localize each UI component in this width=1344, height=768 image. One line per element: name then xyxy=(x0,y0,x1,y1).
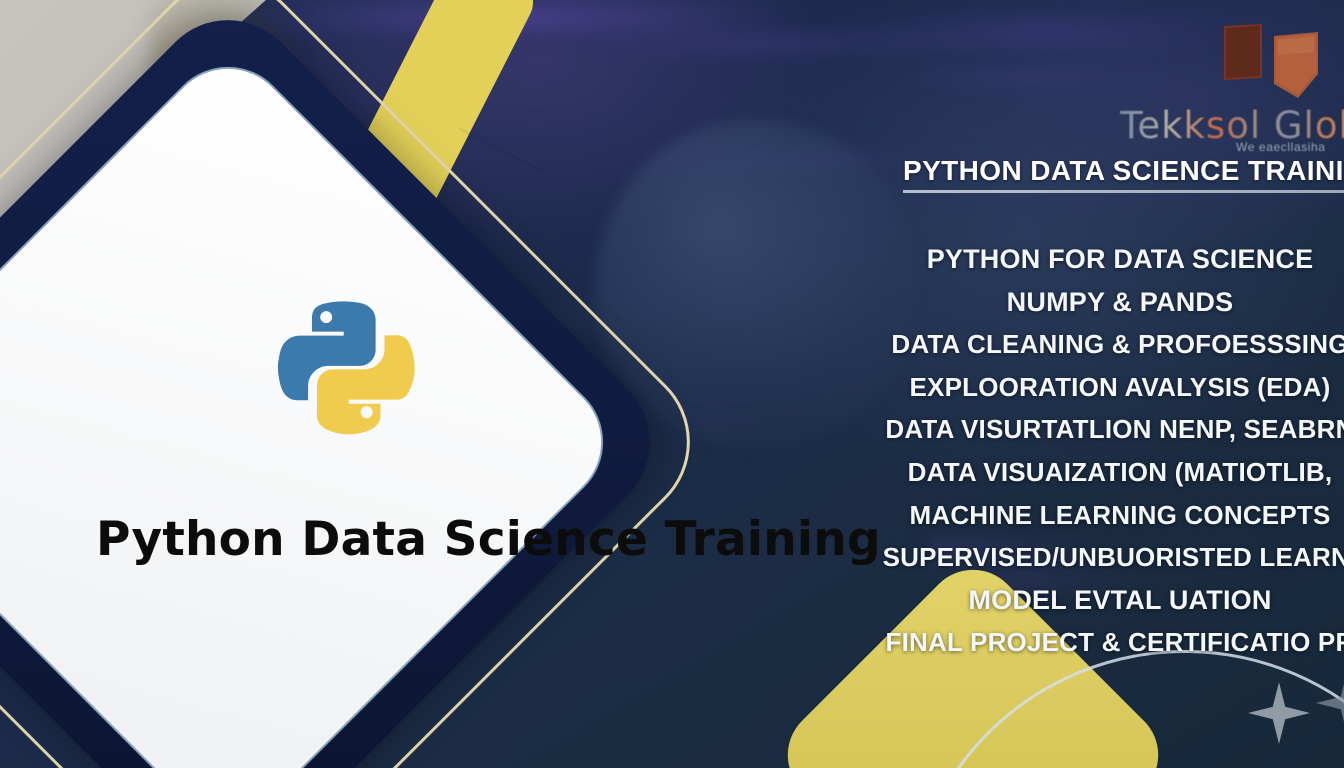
topic-list: PYTHON FOR DATA SCIENCE NUMPY & PANDS DA… xyxy=(860,238,1344,664)
diamond-card-content: Python Data Science Training xyxy=(96,290,856,710)
topic-item: DATA VISURTATLION NENP, SEABRN xyxy=(860,408,1344,451)
tekksol-logo-mark-icon xyxy=(1214,22,1340,104)
topic-item: EXPLOORATION AVALYSIS (EDA) xyxy=(860,366,1344,409)
topic-item: DATA VISUAIZATION (MATIOTLIB, xyxy=(860,451,1344,494)
topic-item: DATA CLEANING & PROFOESSSING xyxy=(860,323,1344,366)
panel-heading: PYTHON DATA SCIENCE TRAINING xyxy=(903,155,1344,187)
hero-diamond: Python Data Science Training xyxy=(0,92,868,768)
card-title: Python Data Science Training xyxy=(96,512,856,567)
glitch-streak xyxy=(560,34,990,52)
topic-item: FINAL PROJECT & CERTIFICATIO PR xyxy=(860,621,1344,664)
poster-canvas: Python Data Science Training Tekksol Glo… xyxy=(0,0,1344,768)
python-logo xyxy=(270,290,418,438)
topic-item: MACHINE LEARNING CONCEPTS xyxy=(860,494,1344,537)
topic-item: PYTHON FOR DATA SCIENCE xyxy=(860,238,1344,281)
panel-divider xyxy=(903,190,1344,193)
brand-tagline: We eaecllasiha xyxy=(1236,140,1326,154)
topic-item: MODEL EVTAL UATION xyxy=(860,579,1344,622)
brand-logo-block: Tekksol Glob We eaecllasiha xyxy=(1126,22,1344,150)
topic-item: SUPERVISED/UNBUORISTED LEARNI xyxy=(860,536,1344,579)
topic-item: NUMPY & PANDS xyxy=(860,281,1344,324)
